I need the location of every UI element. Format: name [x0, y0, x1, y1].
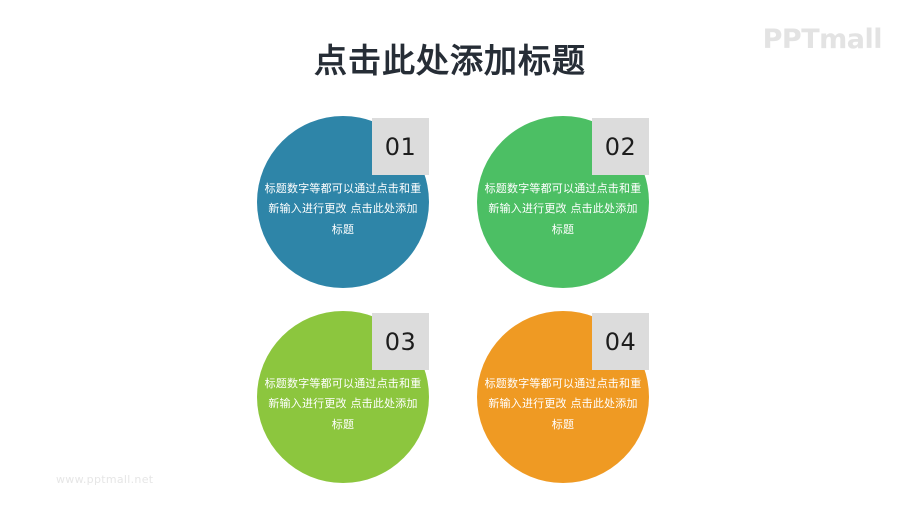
card-item-04[interactable]: 04 标题数字等都可以通过点击和重新输入进行更改 点击此处添加标题: [477, 311, 649, 483]
slide-canvas: PPTmall 点击此处添加标题 01 标题数字等都可以通过点击和重新输入进行更…: [0, 0, 900, 506]
footer-watermark: www.pptmall.net: [56, 473, 153, 486]
card-number-chip-02: 02: [592, 118, 649, 175]
card-item-02[interactable]: 02 标题数字等都可以通过点击和重新输入进行更改 点击此处添加标题: [477, 116, 649, 288]
card-body-text-01: 标题数字等都可以通过点击和重新输入进行更改 点击此处添加标题: [263, 179, 423, 240]
cards-grid: 01 标题数字等都可以通过点击和重新输入进行更改 点击此处添加标题 02 标题数…: [0, 0, 900, 506]
card-number-chip-04: 04: [592, 313, 649, 370]
card-item-01[interactable]: 01 标题数字等都可以通过点击和重新输入进行更改 点击此处添加标题: [257, 116, 429, 288]
card-number-chip-03: 03: [372, 313, 429, 370]
card-body-text-03: 标题数字等都可以通过点击和重新输入进行更改 点击此处添加标题: [263, 374, 423, 435]
card-item-03[interactable]: 03 标题数字等都可以通过点击和重新输入进行更改 点击此处添加标题: [257, 311, 429, 483]
card-number-chip-01: 01: [372, 118, 429, 175]
card-body-text-02: 标题数字等都可以通过点击和重新输入进行更改 点击此处添加标题: [483, 179, 643, 240]
card-body-text-04: 标题数字等都可以通过点击和重新输入进行更改 点击此处添加标题: [483, 374, 643, 435]
